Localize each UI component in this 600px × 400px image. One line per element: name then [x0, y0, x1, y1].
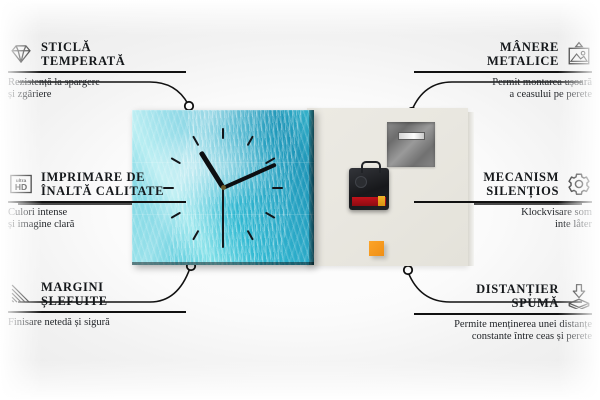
metal-hanger-plate	[387, 122, 435, 167]
callout-desc-line1: Finisare netedă și sigură	[8, 317, 186, 330]
movement-dial	[355, 176, 367, 188]
press-down-foam-icon	[566, 283, 592, 309]
callout-title-line1: DISTANȚIER	[476, 282, 559, 296]
callout-polished-edges: MARGINI ȘLEFUITE Finisare netedă și sigu…	[8, 280, 186, 329]
clock-movement	[349, 168, 389, 210]
callout-silent-mechanism: MECANISM SILENȚIOS Klockvisare som inte …	[414, 170, 592, 232]
ultra-hd-icon: ultra HD	[8, 171, 34, 197]
hanger-slot	[398, 132, 425, 140]
callout-title-line1: MÂNERE	[487, 40, 559, 54]
callout-desc-line2: a ceasului pe perete	[414, 89, 592, 102]
callout-metal-handles: MÂNERE METALICE Permit montarea ușoară a…	[414, 40, 592, 102]
callout-foam-spacer: DISTANȚIER SPUMĂ Permite menținerea unei…	[414, 282, 592, 344]
callout-rule	[8, 311, 186, 313]
callout-rule	[414, 71, 592, 73]
clock-center-pin	[221, 185, 226, 190]
diamond-icon	[8, 41, 34, 67]
second-hand	[222, 188, 224, 246]
foam-spacer-square	[369, 241, 384, 256]
callout-rule	[414, 313, 592, 315]
callout-title-line2: TEMPERATĂ	[41, 54, 125, 68]
callout-desc-line2: și zgâriere	[8, 89, 186, 102]
picture-frame-hook-icon	[566, 41, 592, 67]
callout-title-line2: SILENȚIOS	[483, 184, 559, 198]
callout-title-line2: SPUMĂ	[476, 296, 559, 310]
infographic-canvas: STICLĂ TEMPERATĂ Rezistență la spargere …	[0, 0, 600, 400]
callout-title-line1: MECANISM	[483, 170, 559, 184]
gear-icon	[566, 171, 592, 197]
callout-desc-line1: Permit montarea ușoară	[414, 77, 592, 90]
callout-desc-line2: și imagine clară	[8, 219, 186, 232]
callout-title-line2: METALICE	[487, 54, 559, 68]
svg-text:HD: HD	[15, 182, 27, 192]
callout-title-line2: ÎNALTĂ CALITATE	[41, 184, 164, 198]
movement-battery-label	[352, 197, 386, 206]
callout-title-line1: IMPRIMARE DE	[41, 170, 164, 184]
callout-desc-line1: Klockvisare som	[414, 207, 592, 220]
glass-bottom-edge	[132, 262, 314, 265]
callout-desc-line2: inte låter	[414, 219, 592, 232]
callout-rule	[8, 201, 186, 203]
callout-desc-line2: constante între ceas și perete	[414, 331, 592, 344]
callout-tempered-glass: STICLĂ TEMPERATĂ Rezistență la spargere …	[8, 40, 186, 102]
callout-title-line1: STICLĂ	[41, 40, 125, 54]
callout-print-quality: ultra HD IMPRIMARE DE ÎNALTĂ CALITATE Cu…	[8, 170, 186, 232]
callout-desc-line1: Rezistență la spargere	[8, 77, 186, 90]
callout-rule	[414, 201, 592, 203]
callout-rule	[8, 71, 186, 73]
polished-edge-icon	[8, 281, 34, 307]
glass-right-edge	[309, 110, 314, 265]
callout-title-line1: MARGINI	[41, 280, 108, 294]
callout-desc-line1: Culori intense	[8, 207, 186, 220]
movement-hanger-loop	[361, 161, 381, 173]
callout-desc-line1: Permite menținerea unei distanțe	[414, 319, 592, 332]
callout-title-line2: ȘLEFUITE	[41, 294, 108, 308]
